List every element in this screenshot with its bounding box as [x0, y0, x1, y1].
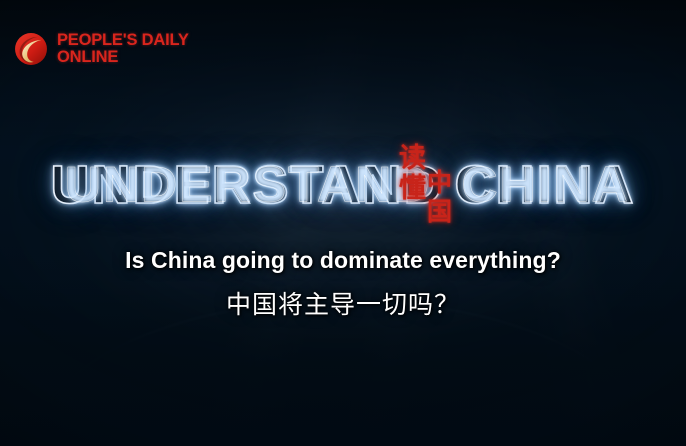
brand-logo: PEOPLE'S DAILY ONLINE	[12, 30, 189, 68]
chinese-char-du: 读	[399, 144, 426, 174]
title-word-china: CHINA	[455, 156, 636, 214]
peoples-daily-circle-logo-icon	[12, 30, 50, 68]
chinese-char-dong: 懂	[399, 174, 426, 204]
chinese-char-zhong: 中	[427, 168, 452, 197]
chinese-char-guo: 国	[427, 197, 452, 226]
title-word-understand: UNDERSTAND	[51, 156, 445, 214]
brand-logo-text: PEOPLE'S DAILY ONLINE	[57, 32, 189, 66]
chinese-title-column-right: 中 国	[427, 142, 452, 238]
chinese-title-column-left: 读 懂	[399, 142, 426, 238]
main-title: UNDERSTAND CHINA	[0, 152, 686, 218]
title-card: PEOPLE'S DAILY ONLINE UNDERSTAND CHINA 读…	[0, 0, 686, 446]
brand-line-2: ONLINE	[57, 49, 189, 66]
subtitle-chinese: 中国将主导一切吗？	[0, 285, 686, 321]
brand-line-1: PEOPLE'S DAILY	[57, 32, 189, 49]
subtitle-english: Is China going to dominate everything?	[0, 247, 686, 274]
chinese-title-stamp: 读 懂 中 国	[399, 142, 471, 238]
